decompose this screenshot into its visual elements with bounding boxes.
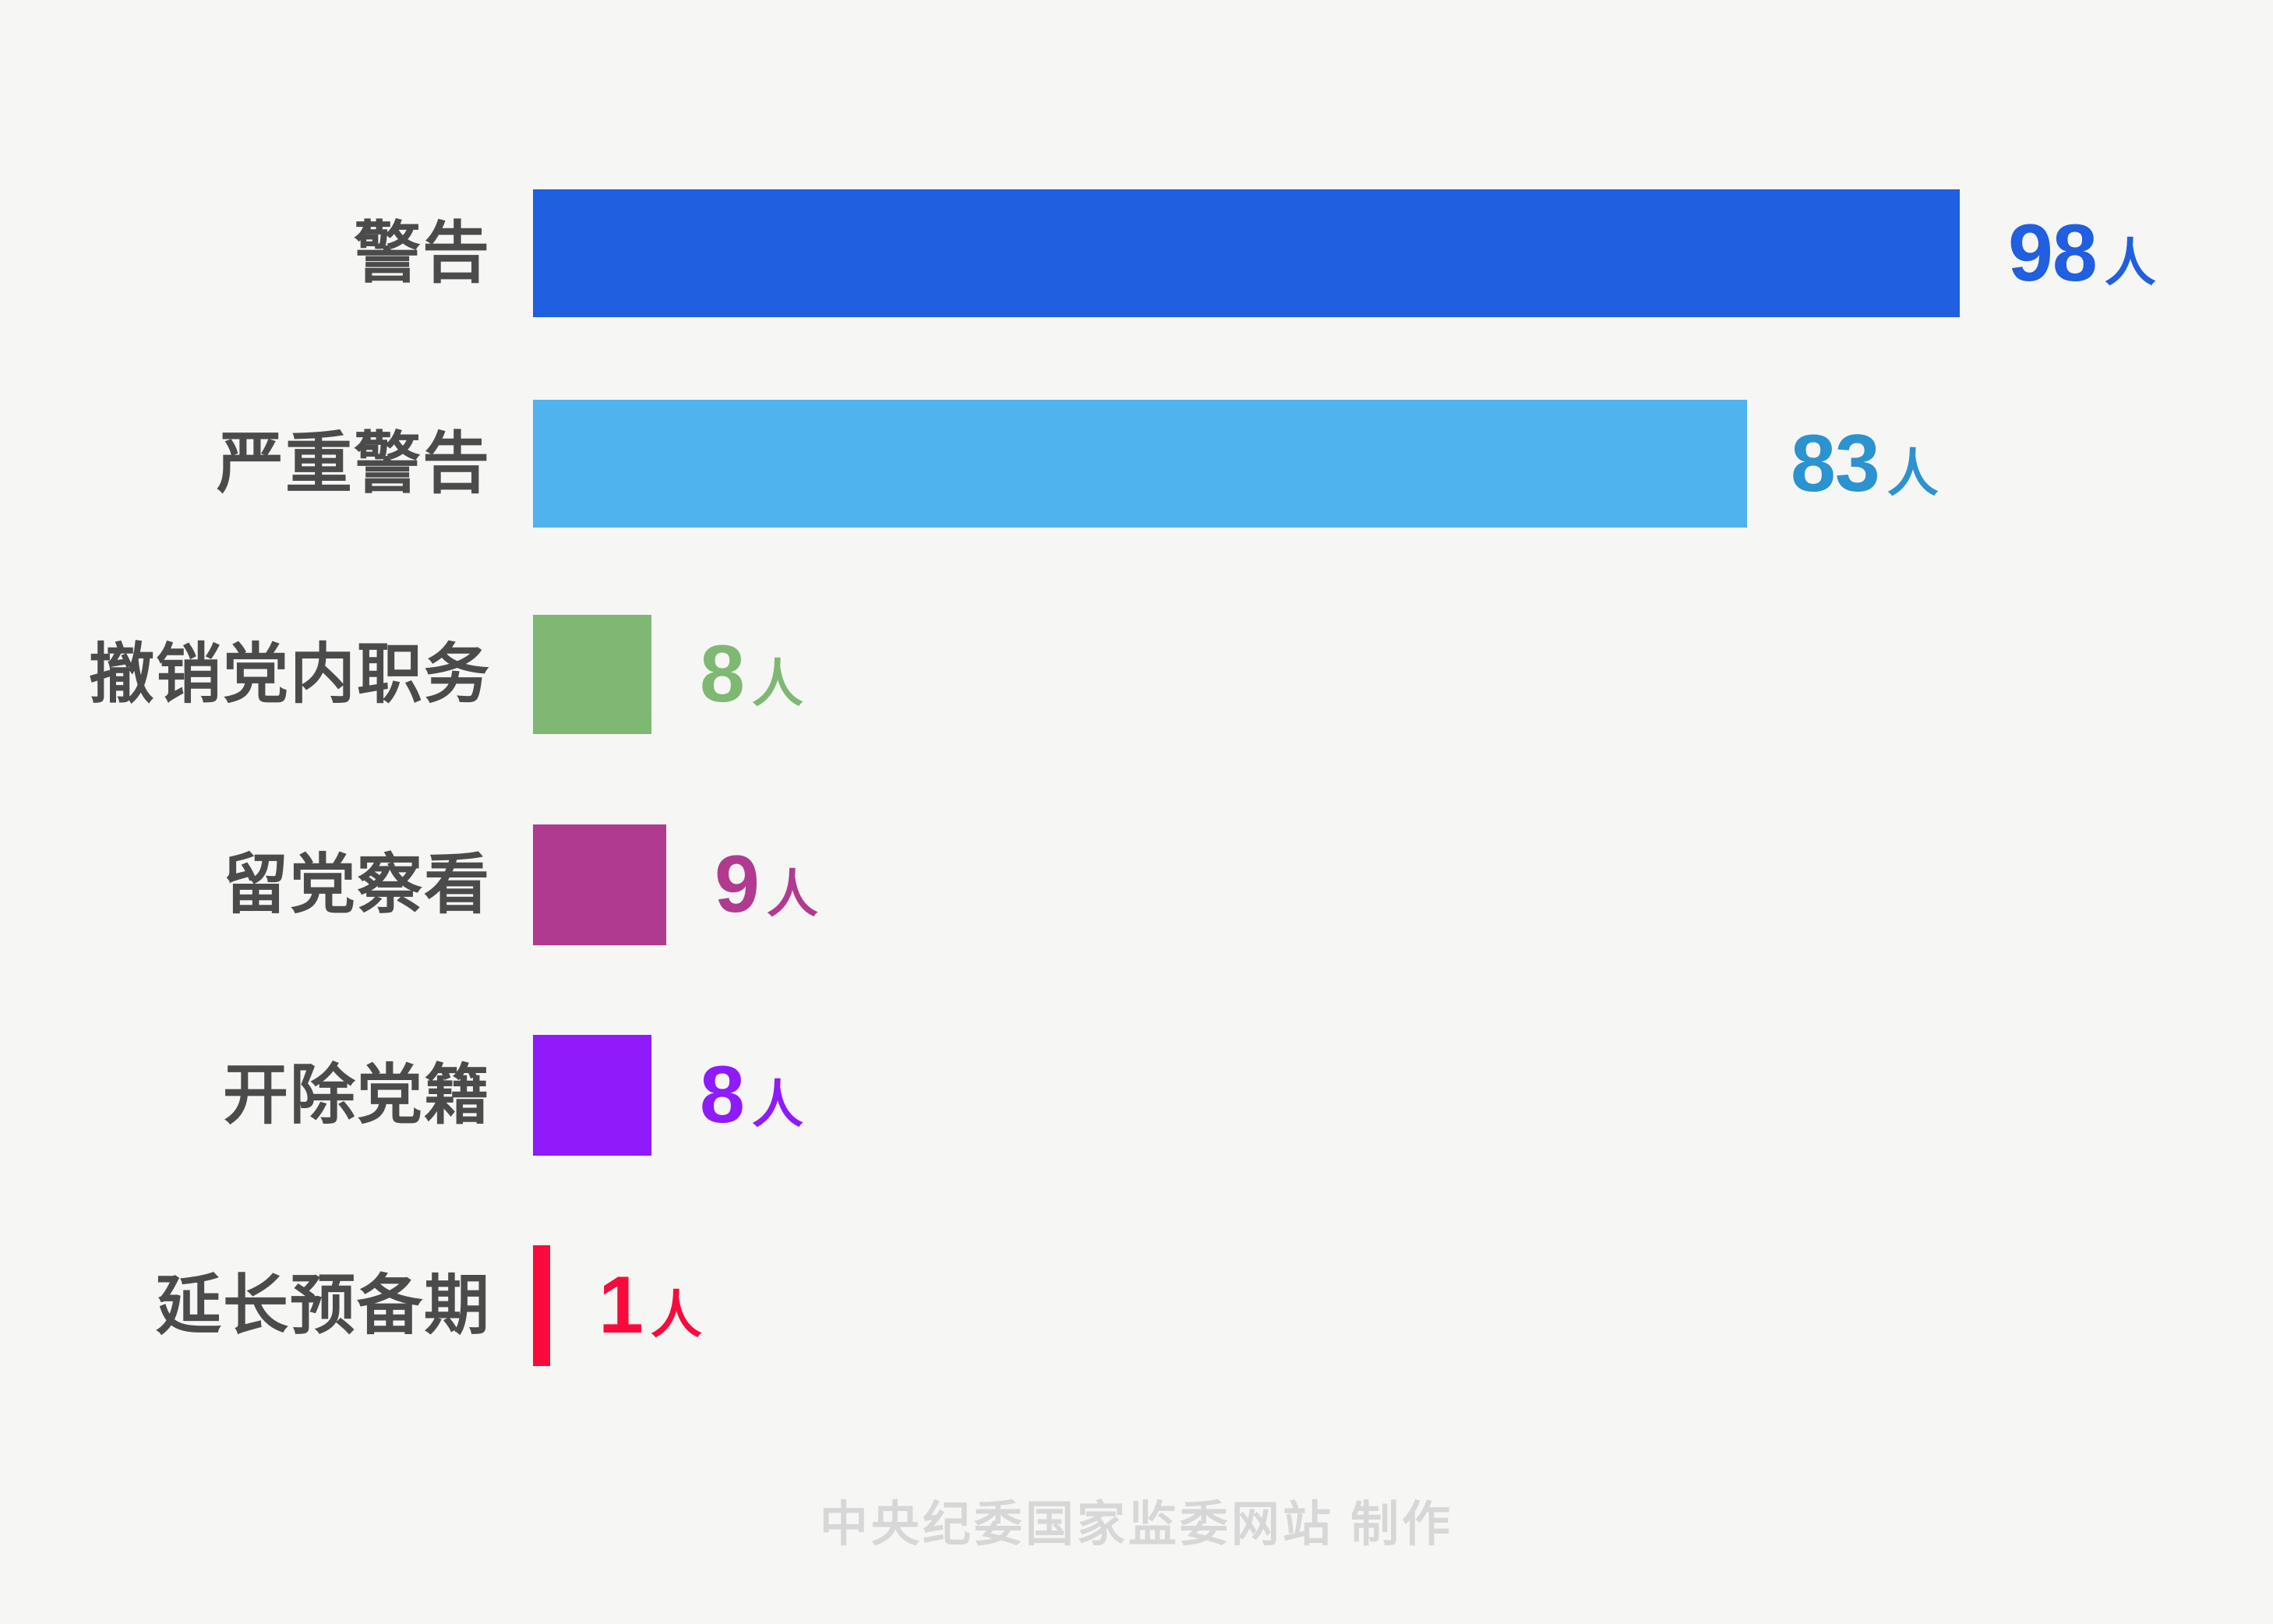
table-row: 延长预备期 1 人	[0, 1200, 2273, 1410]
bar-area: 1 人	[533, 1200, 702, 1410]
bar-rect	[533, 400, 1747, 528]
table-row: 开除党籍 8 人	[0, 990, 2273, 1200]
bar-rows: 警告 98 人 严重警告 83 人 撤销党内职务	[0, 148, 2273, 1410]
bar-value-unit: 人	[752, 658, 803, 709]
bar-value-number: 1	[598, 1265, 643, 1346]
table-row: 警告 98 人	[0, 148, 2273, 358]
bar-value-number: 9	[715, 844, 759, 925]
bar-rect	[533, 1245, 550, 1366]
footer-credit: 中央纪委国家监委网站 制作	[0, 1485, 2273, 1555]
bar-value-unit: 人	[2105, 237, 2156, 288]
bar-category-label: 延长预备期	[0, 1273, 491, 1338]
bar-rect	[533, 1035, 651, 1156]
bar-value-label: 98 人	[2008, 213, 2156, 294]
bar-area: 8 人	[533, 990, 803, 1200]
bar-area: 9 人	[533, 779, 818, 990]
bar-rect	[533, 824, 666, 945]
bar-category-label: 警告	[0, 220, 491, 287]
table-row: 严重警告 83 人	[0, 358, 2273, 569]
bar-value-unit: 人	[767, 868, 818, 920]
bar-value-label: 83 人	[1791, 423, 1939, 504]
bar-area: 8 人	[533, 569, 803, 779]
bar-value-number: 8	[700, 634, 744, 715]
bar-value-unit: 人	[1887, 447, 1939, 499]
bar-value-label: 1 人	[598, 1265, 702, 1346]
bar-value-label: 8 人	[700, 1054, 803, 1135]
bar-area: 83 人	[533, 358, 1939, 569]
bar-value-unit: 人	[752, 1079, 803, 1130]
bar-value-number: 98	[2008, 213, 2097, 294]
bar-value-unit: 人	[651, 1289, 702, 1340]
bar-area: 98 人	[533, 148, 2156, 358]
bar-rect	[533, 615, 651, 734]
bar-value-number: 83	[1791, 423, 1879, 504]
bar-category-label: 撤销党内职务	[0, 641, 491, 707]
table-row: 撤销党内职务 8 人	[0, 569, 2273, 779]
bar-category-label: 开除党籍	[0, 1062, 491, 1128]
bar-value-label: 8 人	[700, 634, 803, 715]
bar-value-number: 8	[700, 1054, 744, 1135]
table-row: 留党察看 9 人	[0, 779, 2273, 990]
bar-chart: 警告 98 人 严重警告 83 人 撤销党内职务	[0, 0, 2273, 1624]
bar-rect	[533, 189, 1960, 317]
bar-value-label: 9 人	[715, 844, 818, 925]
bar-category-label: 留党察看	[0, 852, 491, 917]
bar-category-label: 严重警告	[0, 430, 491, 497]
